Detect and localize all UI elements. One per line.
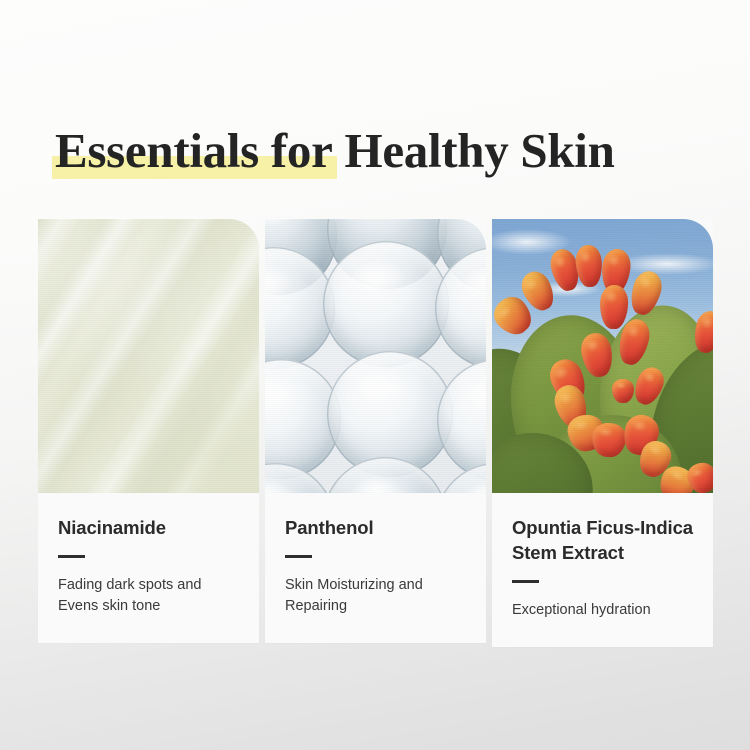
cream-texture-art bbox=[38, 219, 259, 493]
ingredient-card[interactable]: Opuntia Ficus-Indica Stem Extract Except… bbox=[492, 219, 713, 647]
water-bubbles-image bbox=[265, 219, 486, 493]
ingredient-card-body: Opuntia Ficus-Indica Stem Extract Except… bbox=[492, 493, 713, 647]
page-title-highlighted-segment: Essentials for bbox=[55, 120, 333, 182]
divider-dash bbox=[285, 555, 312, 558]
ingredient-card-body: Niacinamide Fading dark spots and Evens … bbox=[38, 493, 259, 643]
ingredient-card[interactable]: Panthenol Skin Moisturizing and Repairin… bbox=[265, 219, 486, 643]
divider-dash bbox=[58, 555, 85, 558]
page-title-plain-segment: Healthy Skin bbox=[333, 123, 615, 178]
ingredient-card[interactable]: Niacinamide Fading dark spots and Evens … bbox=[38, 219, 259, 643]
water-bubbles-art bbox=[265, 219, 486, 493]
ingredient-title: Panthenol bbox=[285, 515, 466, 540]
ingredient-description: Skin Moisturizing and Repairing bbox=[285, 575, 466, 617]
ingredient-description: Exceptional hydration bbox=[512, 600, 693, 621]
promo-page: Essentials for Healthy Skin Niacinamide … bbox=[0, 0, 750, 750]
ingredient-title: Opuntia Ficus-Indica Stem Extract bbox=[512, 515, 693, 565]
page-title: Essentials for Healthy Skin bbox=[55, 120, 705, 182]
page-title-container: Essentials for Healthy Skin bbox=[55, 120, 705, 190]
ingredient-description: Fading dark spots and Evens skin tone bbox=[58, 575, 239, 617]
ingredient-title: Niacinamide bbox=[58, 515, 239, 540]
prickly-pear-cactus-image bbox=[492, 219, 713, 493]
cream-texture-swatch-image bbox=[38, 219, 259, 493]
divider-dash bbox=[512, 580, 539, 583]
ingredient-card-body: Panthenol Skin Moisturizing and Repairin… bbox=[265, 493, 486, 643]
prickly-pear-cactus-art bbox=[492, 219, 713, 493]
ingredient-card-list: Niacinamide Fading dark spots and Evens … bbox=[38, 219, 714, 647]
